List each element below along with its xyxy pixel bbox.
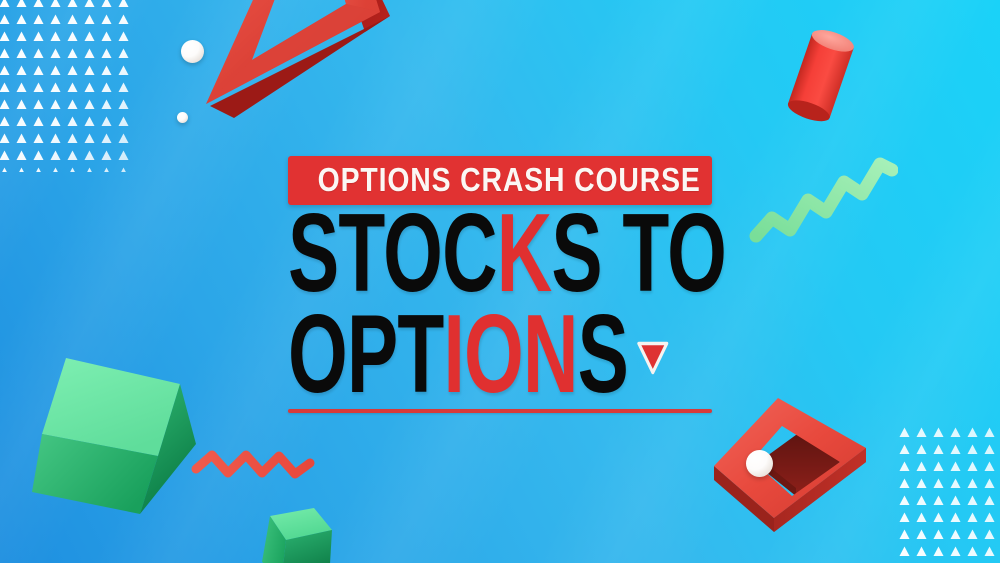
white-sphere-large <box>181 40 204 63</box>
green-zigzag <box>746 140 898 248</box>
green-cube-large-3d <box>28 352 206 520</box>
headline: STOCKS TO OPTIONS <box>288 213 712 395</box>
triangle-dot-pattern-top-left <box>0 0 132 172</box>
white-sphere-small <box>177 112 188 123</box>
red-cylinder-3d <box>770 18 880 128</box>
headline-l2-part-3: S <box>578 292 628 416</box>
white-sphere-in-frame <box>746 450 773 477</box>
slide-canvas: OPTIONS CRASH COURSE STOCKS TO OPTIONS <box>0 0 1000 563</box>
triangle-dot-pattern-bottom-right <box>896 424 1000 563</box>
red-square-frame-3d <box>700 392 880 542</box>
red-triangle-frame-3d <box>140 0 420 142</box>
green-cube-small-3d <box>248 506 344 563</box>
headline-l2-part-1: OPT <box>288 292 443 416</box>
title-block: OPTIONS CRASH COURSE STOCKS TO OPTIONS <box>288 156 712 413</box>
headline-line-1: STOCKS TO <box>288 206 627 302</box>
headline-l2-accent: ION <box>443 292 577 416</box>
triangle-down-icon <box>636 340 670 376</box>
headline-line-2: OPTIONS <box>288 291 627 403</box>
red-zigzag <box>190 443 316 489</box>
triangle-down-icon-wrap <box>636 291 670 387</box>
